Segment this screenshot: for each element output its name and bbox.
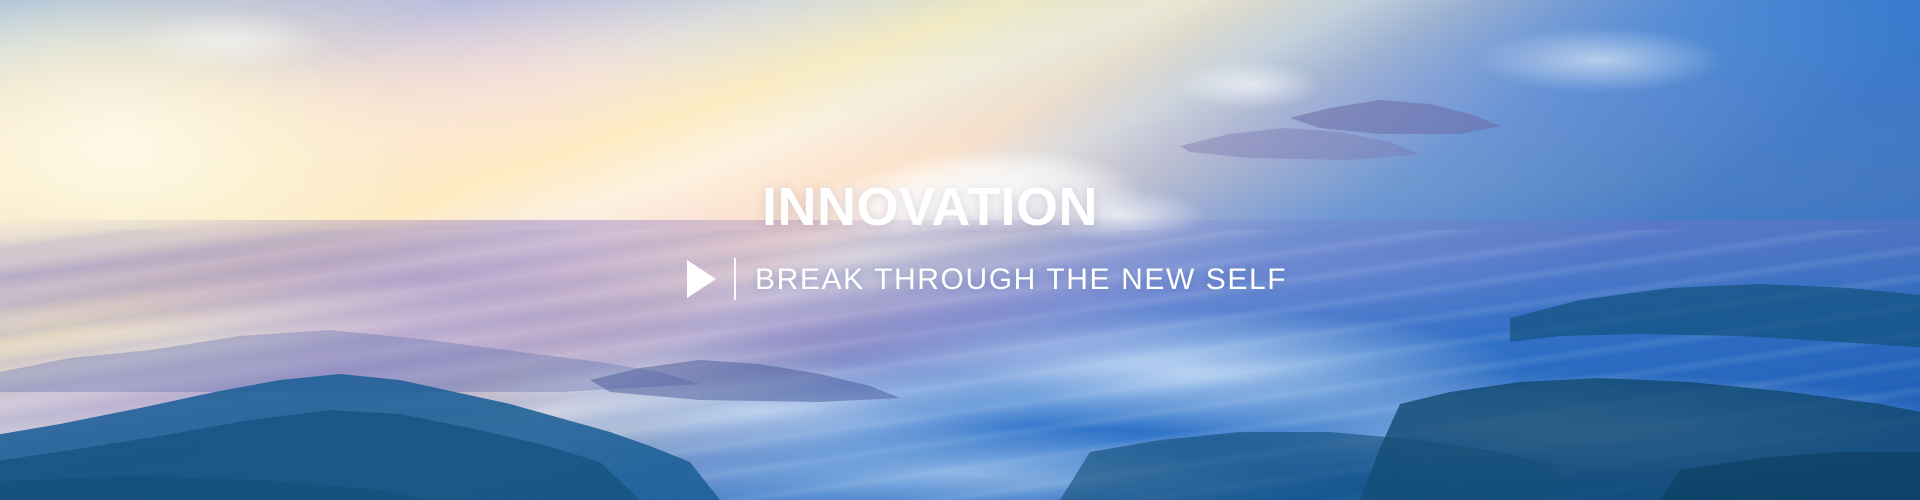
vertical-divider: [734, 258, 736, 300]
banner-content: INNOVATION BREAK THROUGH THE NEW SELF: [686, 180, 1386, 300]
page-title: INNOVATION: [686, 180, 1386, 234]
play-triangle-icon: [687, 260, 716, 298]
tagline-row: BREAK THROUGH THE NEW SELF: [686, 258, 1386, 300]
hero-banner: INNOVATION BREAK THROUGH THE NEW SELF: [0, 0, 1920, 500]
tagline-text: BREAK THROUGH THE NEW SELF: [736, 263, 1287, 296]
